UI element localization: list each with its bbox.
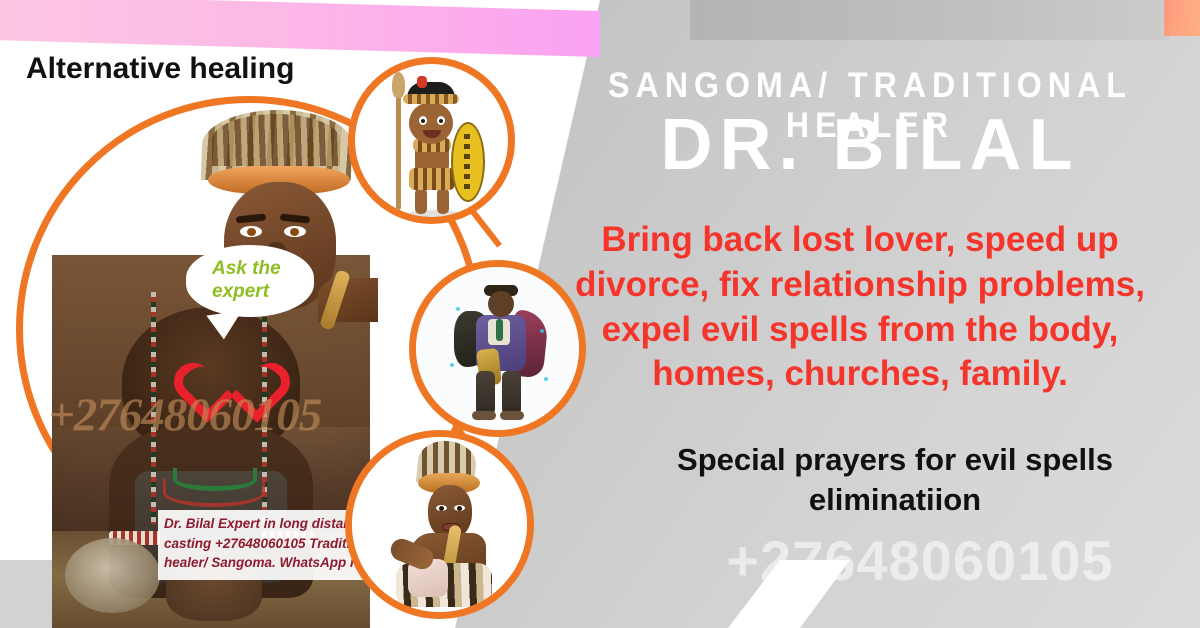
healer-name: DR. BILAL — [560, 108, 1180, 184]
top-gray-bar — [690, 0, 1170, 40]
top-pink-bar — [0, 0, 600, 57]
speech-bubble-tail — [206, 311, 245, 342]
photo-phone-overlay: +27648060105 — [48, 388, 448, 442]
speech-bubble-text: Ask the expert — [212, 257, 312, 303]
top-orange-bar — [1164, 0, 1200, 36]
zulu-warrior-icon — [355, 64, 508, 217]
services-text: Bring back lost lover, speed up divorce,… — [545, 218, 1175, 397]
poster-canvas: Alternative healing +27648060105 Ask — [0, 0, 1200, 628]
photo-bowl — [65, 538, 160, 613]
special-offer-text: Special prayers for evil spells eliminat… — [610, 440, 1180, 521]
kneeling-sangoma-icon — [352, 437, 527, 612]
speech-bubble: Ask the expert — [186, 245, 314, 317]
circle-zulu-warrior — [348, 57, 515, 224]
photo-red-necklace — [163, 479, 264, 507]
watermark-phone-number: +27648060105 — [640, 528, 1200, 593]
page-title: Alternative healing — [26, 52, 294, 86]
circle-kneeling-sangoma — [345, 430, 534, 619]
